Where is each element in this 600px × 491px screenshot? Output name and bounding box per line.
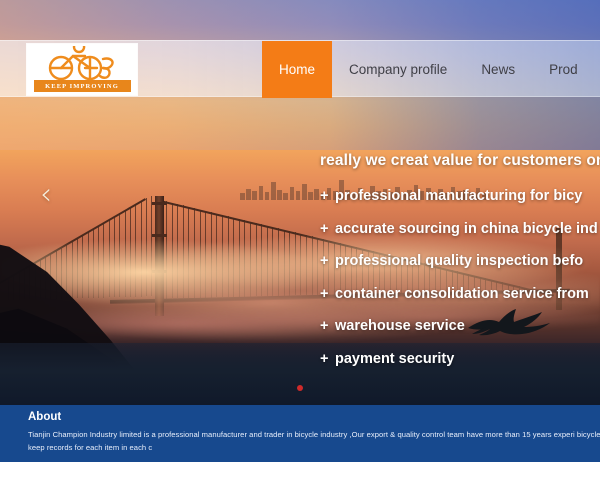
bullet-marker-icon: + [320,351,335,367]
logo-tagline: KEEP IMPROVING [34,80,131,92]
footer-blank-area [0,462,600,491]
hero-bullet-3-label: professional quality inspection befo [335,253,583,269]
about-body: Tianjin Champion Industry limited is a p… [28,428,600,454]
nav-item-news[interactable]: News [464,41,532,98]
about-title: About [28,411,600,423]
hero-bullet-1: +professional manufacturing for bicy [320,188,600,204]
hero-bullet-2: +accurate sourcing in china bicycle ind [320,221,600,237]
hero-bullet-5-label: warehouse service [335,318,465,334]
bicycle-logo-icon [45,46,119,82]
carousel-prev-chevron-icon[interactable]: ‹ [33,178,59,212]
site-logo[interactable]: KEEP IMPROVING [27,44,137,95]
main-navigation[interactable]: HomeCompany profileNewsProd [262,41,595,98]
about-section: About Tianjin Champion Industry limited … [0,405,600,462]
bullet-marker-icon: + [320,188,335,204]
hero-bullet-6-label: payment security [335,351,454,367]
hero-bullet-1-label: professional manufacturing for bicy [335,188,582,204]
hero-bullet-3: +professional quality inspection befo [320,253,600,269]
hero-headline: really we creat value for customers on [320,152,600,170]
carousel-dot-1[interactable] [297,385,303,391]
page-root: really we creat value for customers on +… [0,0,600,491]
bullet-marker-icon: + [320,318,335,334]
carousel-dots[interactable] [0,378,600,396]
hero-bullet-4: +container consolidation service from [320,286,600,302]
bullet-marker-icon: + [320,286,335,302]
hero-text-block: really we creat value for customers on +… [320,152,600,383]
nav-item-home[interactable]: Home [262,41,332,98]
bullet-marker-icon: + [320,221,335,237]
hero-bullet-6: +payment security [320,351,600,367]
bullet-marker-icon: + [320,253,335,269]
site-header: KEEP IMPROVING HomeCompany profileNewsPr… [0,40,600,97]
hero-bullet-5: +warehouse service [320,318,600,334]
hero-bullet-2-label: accurate sourcing in china bicycle ind [335,221,598,237]
hero-bullet-4-label: container consolidation service from [335,286,589,302]
nav-item-company-profile[interactable]: Company profile [332,41,464,98]
nav-item-prod[interactable]: Prod [532,41,595,98]
